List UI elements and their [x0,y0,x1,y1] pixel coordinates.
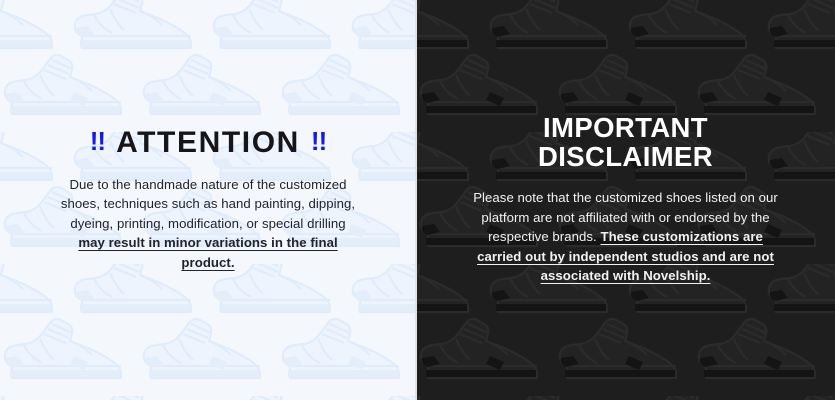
attention-body-emphasis: may result in minor variations in the fi… [78,235,337,270]
promo-banner: !!ATTENTION!! Due to the handmade nature… [0,0,835,400]
disclaimer-heading-line-2: DISCLAIMER [432,143,819,171]
disclaimer-panel: IMPORTANT DISCLAIMER Please note that th… [416,0,835,400]
exclamation-left-icon: !! [90,128,105,154]
disclaimer-heading-line-1: IMPORTANT [432,114,819,142]
attention-body-plain: Due to the handmade nature of the custom… [61,177,355,231]
attention-content: !!ATTENTION!! Due to the handmade nature… [0,128,416,273]
disclaimer-content: IMPORTANT DISCLAIMER Please note that th… [416,114,835,285]
exclamation-right-icon: !! [311,128,326,154]
attention-body: Due to the handmade nature of the custom… [58,175,358,273]
attention-heading: !!ATTENTION!! [16,128,400,158]
attention-panel: !!ATTENTION!! Due to the handmade nature… [0,0,416,400]
disclaimer-body: Please note that the customized shoes li… [468,188,784,286]
attention-heading-word: ATTENTION [116,128,300,158]
disclaimer-heading: IMPORTANT DISCLAIMER [432,114,819,171]
panel-divider [415,0,417,400]
